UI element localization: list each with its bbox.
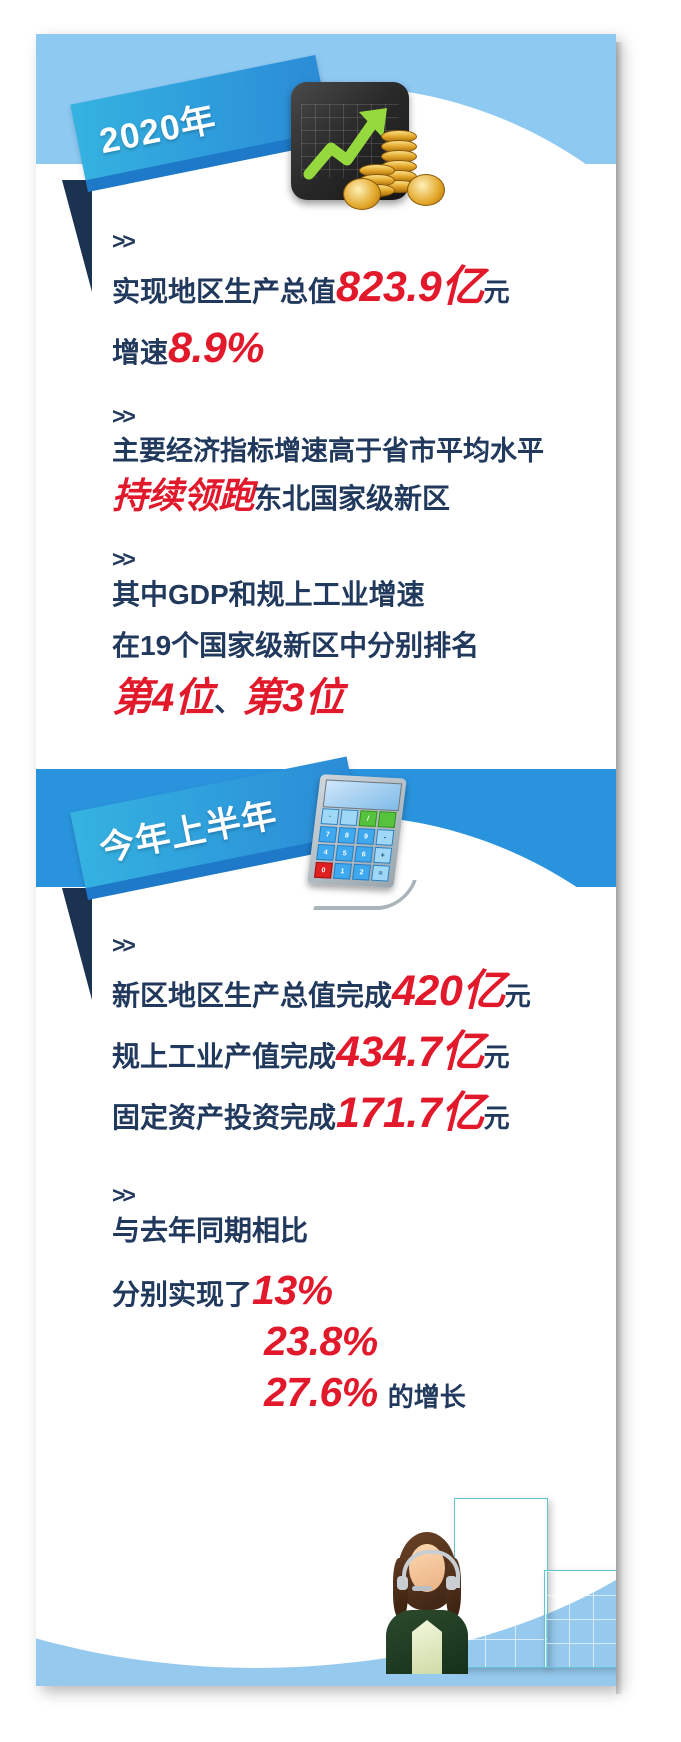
rank-second: 第3位 [242, 676, 344, 720]
calc-key [378, 811, 397, 828]
stat-line: 实现地区生产总值823.9亿元 [112, 257, 622, 318]
stat-block: >> 实现地区生产总值823.9亿元 增速8.9% [112, 230, 622, 379]
rank-first: 第4位 [112, 676, 214, 720]
office-tower-small-icon [544, 1570, 616, 1668]
chevron-marker-icon: >> [112, 405, 622, 428]
stat-line: 新区地区生产总值完成420亿元 [112, 961, 632, 1022]
highlight-value: 持续领跑 [112, 475, 254, 516]
bottom-illustration [376, 1484, 616, 1674]
chevron-marker-icon: >> [112, 1184, 632, 1207]
calculator-keypad: · / 7 8 9 - 4 5 6 + 0 1 2 = [314, 808, 397, 881]
calc-key: 5 [335, 845, 354, 862]
stat-block: >> 新区地区生产总值完成420亿元 规上工业产值完成434.7亿元 固定资产投… [112, 934, 632, 1144]
growth-line: 23.8% [112, 1316, 632, 1367]
growth-value: 27.6% [264, 1369, 378, 1415]
calc-key: 0 [314, 862, 333, 879]
calc-key: 4 [316, 844, 335, 861]
poster-sheet: 2020年 [36, 34, 616, 1686]
stat-line: 主要经济指标增速高于省市平均水平 [112, 432, 622, 470]
highlight-value: 434.7亿 [336, 1028, 484, 1076]
growth-line: 27.6%的增长 [112, 1367, 632, 1418]
ribbon-fold-shadow [62, 180, 92, 292]
stat-line: 与去年同期相比 [112, 1211, 632, 1251]
highlight-value: 171.7亿 [336, 1089, 484, 1137]
infographic-poster: 2020年 [0, 0, 681, 1742]
calculator-screen [323, 779, 402, 811]
calculator-icon: · / 7 8 9 - 4 5 6 + 0 1 2 = [298, 776, 430, 916]
stat-line: 固定资产投资完成171.7亿元 [112, 1083, 632, 1144]
highlight-value: 8.9% [168, 324, 264, 372]
growth-line: 分别实现了13% [112, 1265, 632, 1316]
chevron-marker-icon: >> [112, 230, 622, 253]
chevron-marker-icon: >> [112, 548, 622, 571]
calc-key: - [375, 829, 394, 846]
highlight-value: 420亿 [392, 967, 505, 1015]
stat-block: >> 与去年同期相比 分别实现了13% 23.8% 27.6%的增长 [112, 1184, 632, 1417]
calc-key: · [321, 808, 340, 825]
calc-key: = [371, 865, 390, 882]
calculator-body: · / 7 8 9 - 4 5 6 + 0 1 2 = [307, 774, 406, 888]
rank-line: 第4位、第3位 [112, 672, 622, 724]
ribbon-fold-shadow [62, 888, 92, 1000]
calc-key: 1 [333, 863, 352, 880]
operator-avatar-icon [382, 1524, 472, 1674]
stat-line: 持续领跑东北国家级新区 [112, 470, 622, 521]
calc-key: 9 [356, 828, 375, 845]
stat-line: 在19个国家级新区中分别排名 [112, 626, 622, 666]
calc-key: + [373, 847, 392, 864]
section-2-content: >> 新区地区生产总值完成420亿元 规上工业产值完成434.7亿元 固定资产投… [112, 934, 632, 1443]
calc-key: 8 [337, 827, 356, 844]
stat-line: 增速8.9% [112, 318, 622, 379]
stat-block: >> 主要经济指标增速高于省市平均水平 持续领跑东北国家级新区 [112, 405, 622, 521]
chevron-marker-icon: >> [112, 934, 632, 957]
growth-value: 23.8% [264, 1318, 378, 1364]
chart-coins-icon [291, 82, 459, 214]
calc-key: 6 [354, 846, 373, 863]
calc-key: 2 [352, 864, 371, 881]
calc-key [340, 809, 359, 826]
stat-line: 其中GDP和规上工业增速 [112, 575, 622, 615]
highlight-value: 823.9亿 [336, 263, 484, 311]
stat-block: >> 其中GDP和规上工业增速 在19个国家级新区中分别排名 第4位、第3位 [112, 548, 622, 725]
growth-value: 13% [252, 1267, 333, 1313]
stat-line: 规上工业产值完成434.7亿元 [112, 1022, 632, 1083]
calc-key: / [359, 810, 378, 827]
calc-key: 7 [318, 826, 337, 843]
section-1-content: >> 实现地区生产总值823.9亿元 增速8.9% >> 主要经济指标增速高于省… [112, 230, 622, 750]
